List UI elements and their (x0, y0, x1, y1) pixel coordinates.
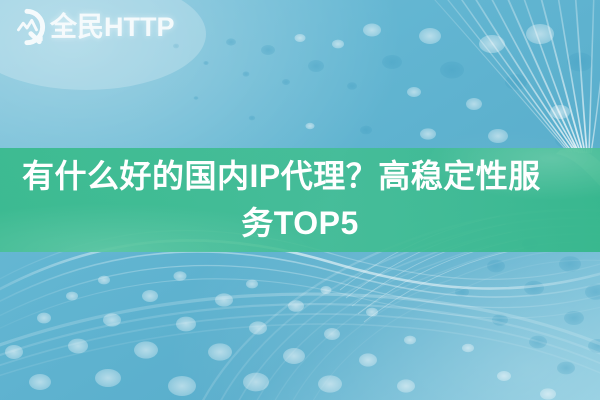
cover-image: 全民HTTP 有什么好的国内IP代理？高稳定性服 务TOP5 (0, 0, 600, 400)
title-line-1: 有什么好的国内IP代理？高稳定性服 (22, 153, 541, 200)
title-block: 有什么好的国内IP代理？高稳定性服 务TOP5 (0, 150, 600, 250)
title-line-2: 务TOP5 (241, 200, 359, 247)
watermark-brand-text: 全民HTTP (50, 14, 175, 41)
quanmin-http-circle-logo-icon (8, 8, 46, 46)
watermark-logo: 全民HTTP (8, 8, 175, 46)
